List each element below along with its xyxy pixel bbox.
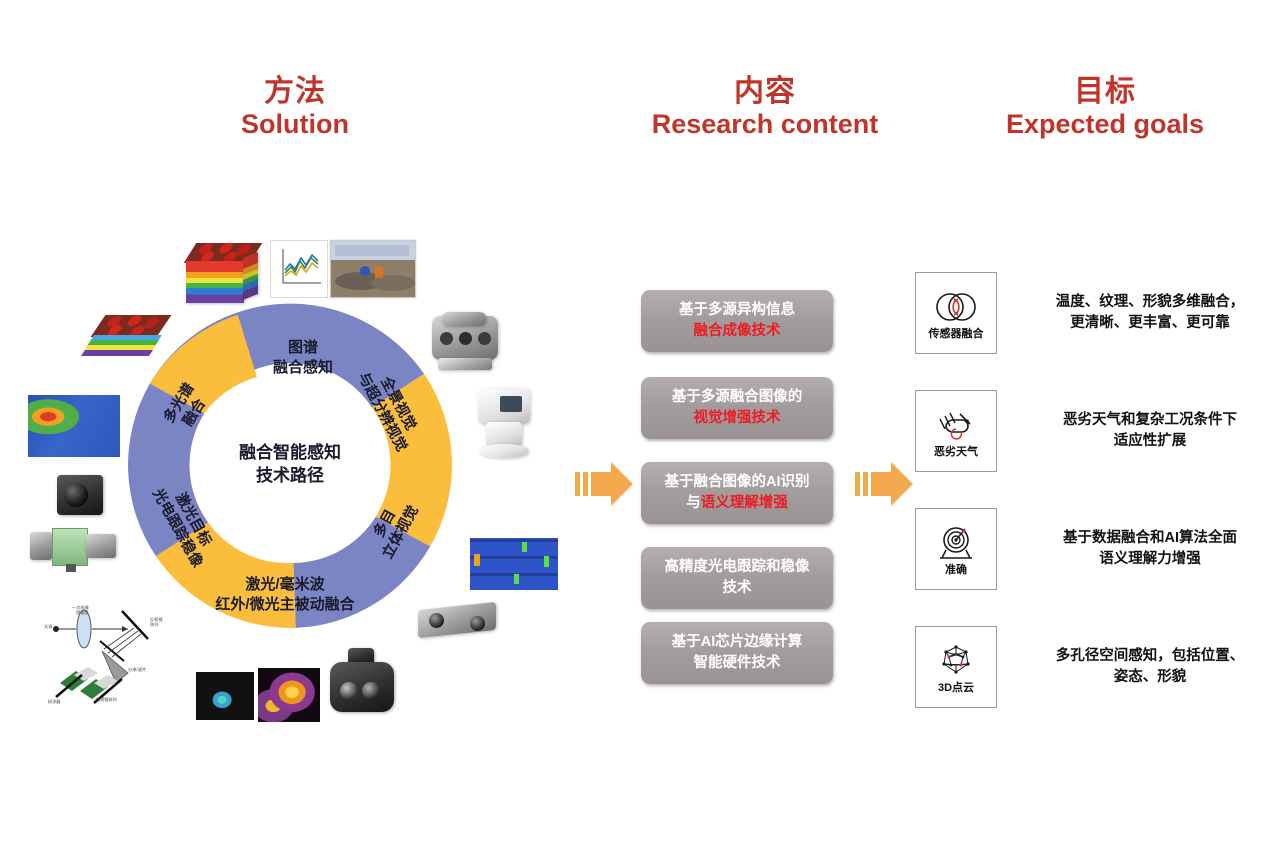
column-header-goals-cn: 目标 — [940, 74, 1268, 109]
wheel-seg3-line1: 激光/毫米波 — [245, 575, 325, 593]
night-vision-image-1 — [196, 672, 254, 720]
goal-row-3: 准确 基于数据融合和AI算法全面 语义理解力增强 — [915, 508, 1268, 590]
goal-text-3-line1: 基于数据融合和AI算法全面 — [1025, 528, 1268, 549]
svg-text:分束/滤片: 分束/滤片 — [128, 666, 146, 673]
content-box-4-line1: 高精度光电跟踪和稳像 — [665, 557, 810, 578]
eo-turret-device — [326, 648, 398, 720]
sensor-fusion-icon — [932, 287, 980, 327]
goal-icon-box-3[interactable]: 准确 — [915, 508, 997, 590]
content-box-3-highlight: 语义理解增强 — [701, 495, 788, 511]
spectral-curve-svg — [271, 241, 327, 297]
goal-text-2-line1: 恶劣天气和复杂工况条件下 — [1025, 410, 1268, 431]
spectral-curve-chart-image — [270, 240, 328, 298]
wheel-center-label: 融合智能感知 技术路径 — [200, 442, 380, 488]
column-header-goals: 目标 Expected goals — [940, 74, 1268, 141]
wheel-seg0-line2: 融合感知 — [273, 358, 333, 376]
goal-row-1: 传感器融合 温度、纹理、形貌多维融合， 更清晰、更丰富、更可靠 — [915, 272, 1268, 354]
column-header-content-cn: 内容 — [600, 74, 930, 109]
goal-text-4: 多孔径空间感知，包括位置、 姿态、形貌 — [1025, 646, 1268, 688]
goal-text-1-line2: 更清晰、更丰富、更可靠 — [1025, 313, 1268, 334]
wheel-center-line1: 融合智能感知 — [200, 442, 380, 465]
arrow-content-to-goals — [855, 458, 915, 515]
content-box-1[interactable]: 基于多源异构信息 融合成像技术 — [641, 290, 833, 352]
wheel-seg3-line2: 红外/微光主被动融合 — [215, 595, 355, 613]
column-header-content-en: Research content — [600, 109, 930, 141]
pan-tilt-device — [474, 388, 534, 460]
goal-text-2-line2: 适应性扩展 — [1025, 431, 1268, 452]
goal-text-2: 恶劣天气和复杂工况条件下 适应性扩展 — [1025, 410, 1268, 452]
goal-icon-label-1: 传感器融合 — [929, 329, 984, 340]
target-accuracy-icon — [932, 523, 980, 563]
arrow-solution-to-content — [575, 458, 635, 515]
goal-text-4-line2: 姿态、形貌 — [1025, 667, 1268, 688]
goal-text-3-line2: 语义理解力增强 — [1025, 549, 1268, 570]
goal-row-2: 恶劣天气 恶劣天气和复杂工况条件下 适应性扩展 — [915, 390, 1268, 472]
content-box-3[interactable]: 基于融合图像的AI识别 与语义理解增强 — [641, 462, 833, 524]
solution-wheel: 图谱 融合感知 全景视觉 与超分辨视觉 多目 立体视觉 激光/毫米波 红外/微光… — [125, 300, 455, 630]
goal-icon-label-3: 准确 — [945, 565, 967, 576]
arrow-solution-to-content-svg — [575, 458, 635, 510]
stereo-depth-map — [470, 538, 558, 590]
content-box-2[interactable]: 基于多源融合图像的 视觉增强技术 — [641, 377, 833, 439]
goal-text-4-line1: 多孔径空间感知，包括位置、 — [1025, 646, 1268, 667]
wheel-seg0-line1: 图谱 — [288, 338, 318, 356]
column-header-content: 内容 Research content — [600, 74, 930, 141]
goal-row-4: 3D点云 多孔径空间感知，包括位置、 姿态、形貌 — [915, 626, 1268, 708]
column-header-solution: 方法 Solution — [160, 74, 430, 141]
content-box-1-highlight: 融合成像技术 — [679, 321, 795, 342]
goal-text-1-line1: 温度、纹理、形貌多维融合， — [1025, 292, 1268, 313]
column-header-solution-en: Solution — [160, 109, 430, 141]
hyperspectral-cube-image — [186, 243, 260, 305]
column-header-solution-cn: 方法 — [160, 74, 430, 109]
svg-text:透镜组: 透镜组 — [76, 609, 89, 616]
goal-icon-box-4[interactable]: 3D点云 — [915, 626, 997, 708]
content-box-4[interactable]: 高精度光电跟踪和稳像 技术 — [641, 547, 833, 609]
content-box-3-line1: 基于融合图像的AI识别 — [665, 472, 810, 493]
point-cloud-3d-icon — [932, 641, 980, 681]
content-box-2-highlight: 视觉增强技术 — [672, 408, 803, 429]
arrow-content-to-goals-svg — [855, 458, 915, 510]
column-header-goals-en: Expected goals — [940, 109, 1268, 141]
svg-text:探测器: 探测器 — [48, 698, 61, 705]
content-box-4-line2: 技术 — [665, 578, 810, 599]
thermal-infrared-image — [28, 395, 120, 457]
goal-icon-label-2: 恶劣天气 — [934, 447, 978, 458]
bad-weather-icon — [932, 405, 980, 445]
goal-text-3: 基于数据融合和AI算法全面 语义理解力增强 — [1025, 528, 1268, 570]
night-vision-image-2 — [258, 668, 320, 722]
goal-icon-box-2[interactable]: 恶劣天气 — [915, 390, 997, 472]
content-box-5[interactable]: 基于AI芯片边缘计算 智能硬件技术 — [641, 622, 833, 684]
wheel-center-line2: 技术路径 — [200, 465, 380, 488]
laser-module-device — [30, 520, 122, 572]
content-box-2-line1: 基于多源融合图像的 — [672, 387, 803, 408]
pipeline-photo-svg — [331, 241, 415, 297]
goal-icon-box-1[interactable]: 传感器融合 — [915, 272, 997, 354]
black-camera-device — [57, 475, 103, 515]
goal-text-1: 温度、纹理、形貌多维融合， 更清晰、更丰富、更可靠 — [1025, 292, 1268, 334]
content-box-5-line1: 基于AI芯片边缘计算 — [672, 632, 803, 653]
pipeline-inspection-photo — [330, 240, 416, 298]
content-box-3-prefix: 与 — [686, 495, 701, 511]
diagram-canvas: 方法 Solution 内容 Research content 目标 Expec… — [0, 0, 1268, 866]
goal-icon-label-4: 3D点云 — [938, 683, 974, 694]
content-box-5-line2: 智能硬件技术 — [672, 653, 803, 674]
svg-text:微透镜阵列: 微透镜阵列 — [96, 696, 117, 703]
svg-text:光源: 光源 — [44, 623, 53, 630]
content-box-1-line1: 基于多源异构信息 — [679, 300, 795, 321]
